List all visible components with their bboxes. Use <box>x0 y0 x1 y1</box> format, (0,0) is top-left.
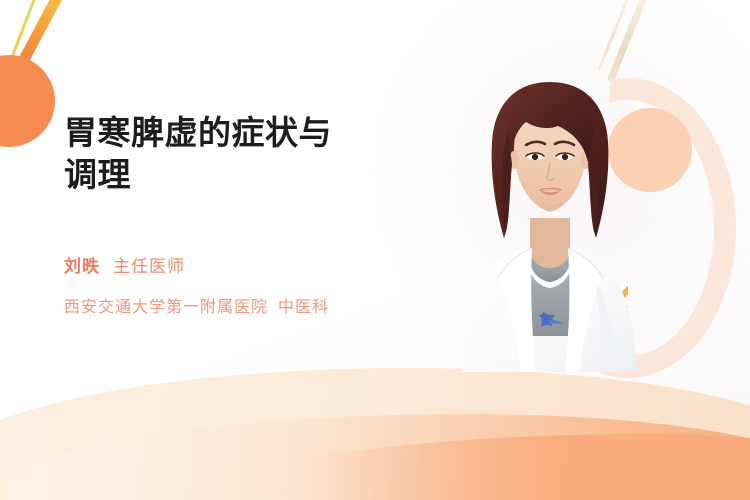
hospital-name: 西安交通大学第一附属医院 <box>64 299 268 316</box>
department-name: 中医科 <box>278 299 329 316</box>
doctor-byline: 刘昳主任医师 <box>64 252 464 277</box>
doctor-affiliation: 西安交通大学第一附属医院中医科 <box>64 293 464 317</box>
doctor-name: 刘昳 <box>64 257 100 276</box>
video-cover-card: 胃寒脾虚的症状与 调理 刘昳主任医师 西安交通大学第一附属医院中医科 <box>0 0 750 500</box>
doctor-rank: 主任医师 <box>113 257 185 276</box>
text-block: 胃寒脾虚的症状与 调理 刘昳主任医师 西安交通大学第一附属医院中医科 <box>64 112 464 317</box>
page-title: 胃寒脾虚的症状与 调理 <box>64 112 464 196</box>
doctor-portrait <box>452 72 648 372</box>
